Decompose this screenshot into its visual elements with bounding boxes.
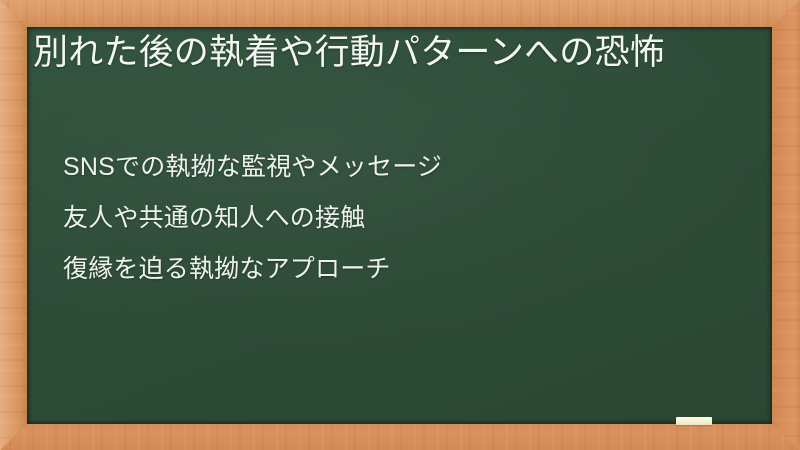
bullet-list: SNSでの執拗な監視やメッセージ 友人や共通の知人への接触 復縁を迫る執拗なアプ… [33,155,745,282]
list-item: 復縁を迫る執拗なアプローチ [33,257,745,282]
chalk-stick-icon [676,417,712,425]
chalkboard-surface: 別れた後の執着や行動パターンへの恐怖 SNSでの執拗な監視やメッセージ 友人や共… [27,27,772,424]
frame-right-rail [772,0,800,450]
chalkboard-slide: 別れた後の執着や行動パターンへの恐怖 SNSでの執拗な監視やメッセージ 友人や共… [0,0,800,450]
frame-left-rail [0,0,27,450]
list-item: SNSでの執拗な監視やメッセージ [33,155,745,180]
slide-title: 別れた後の執着や行動パターンへの恐怖 [33,29,755,77]
frame-top-rail [0,0,800,27]
list-item: 友人や共通の知人への接触 [33,206,745,231]
chalkboard-content: 別れた後の執着や行動パターンへの恐怖 SNSでの執拗な監視やメッセージ 友人や共… [27,27,772,424]
frame-bottom-rail [0,424,800,450]
